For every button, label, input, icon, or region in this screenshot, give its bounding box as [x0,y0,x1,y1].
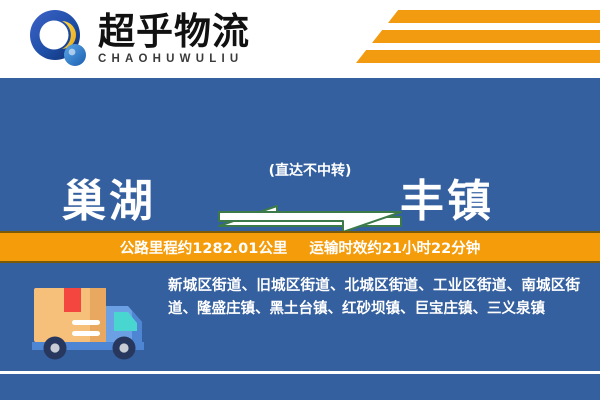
route-section: 巢湖 (直达不中转) 【往返运输】 丰镇 [0,78,600,231]
brand-text: 超乎物流 CHAOHUWULIU [98,12,250,66]
brand-name-en: CHAOHUWULIU [98,52,250,66]
speed-stripes-icon [330,10,600,68]
duration-label: 运输时效约21小时22分钟 [309,237,480,258]
stripe-1 [388,10,600,23]
logistics-route-banner: 超乎物流 CHAOHUWULIU 巢湖 (直达不中转) 【往返运输】 丰镇 [0,0,600,400]
delivery-truck-icon [28,280,152,364]
distance-label: 公路里程约1282.01公里 [120,237,288,258]
route-info-inner: 公路里程约1282.01公里 运输时效约21小时22分钟 [120,237,480,258]
brand-name-cn: 超乎物流 [98,12,250,51]
stripe-2 [372,30,600,43]
coverage-areas-text: 新城区街道、旧城区街道、北城区街道、工业区街道、南城区街道、隆盛庄镇、黑土台镇、… [168,275,580,321]
direct-route-note: (直达不中转) [237,160,383,180]
route-info-bar: 公路里程约1282.01公里 运输时效约21小时22分钟 [0,231,600,263]
footer-band [0,374,600,400]
coverage-section: 新城区街道、旧城区街道、北城区街道、工业区街道、南城区街道、隆盛庄镇、黑土台镇、… [0,263,600,372]
banner-header: 超乎物流 CHAOHUWULIU [0,0,600,78]
destination-city: 丰镇 [400,165,494,229]
origin-city: 巢湖 [62,165,156,229]
brand-logo: 超乎物流 CHAOHUWULIU [28,8,250,70]
circle-crescent-logo-icon [28,8,90,70]
stripe-3 [356,50,600,63]
